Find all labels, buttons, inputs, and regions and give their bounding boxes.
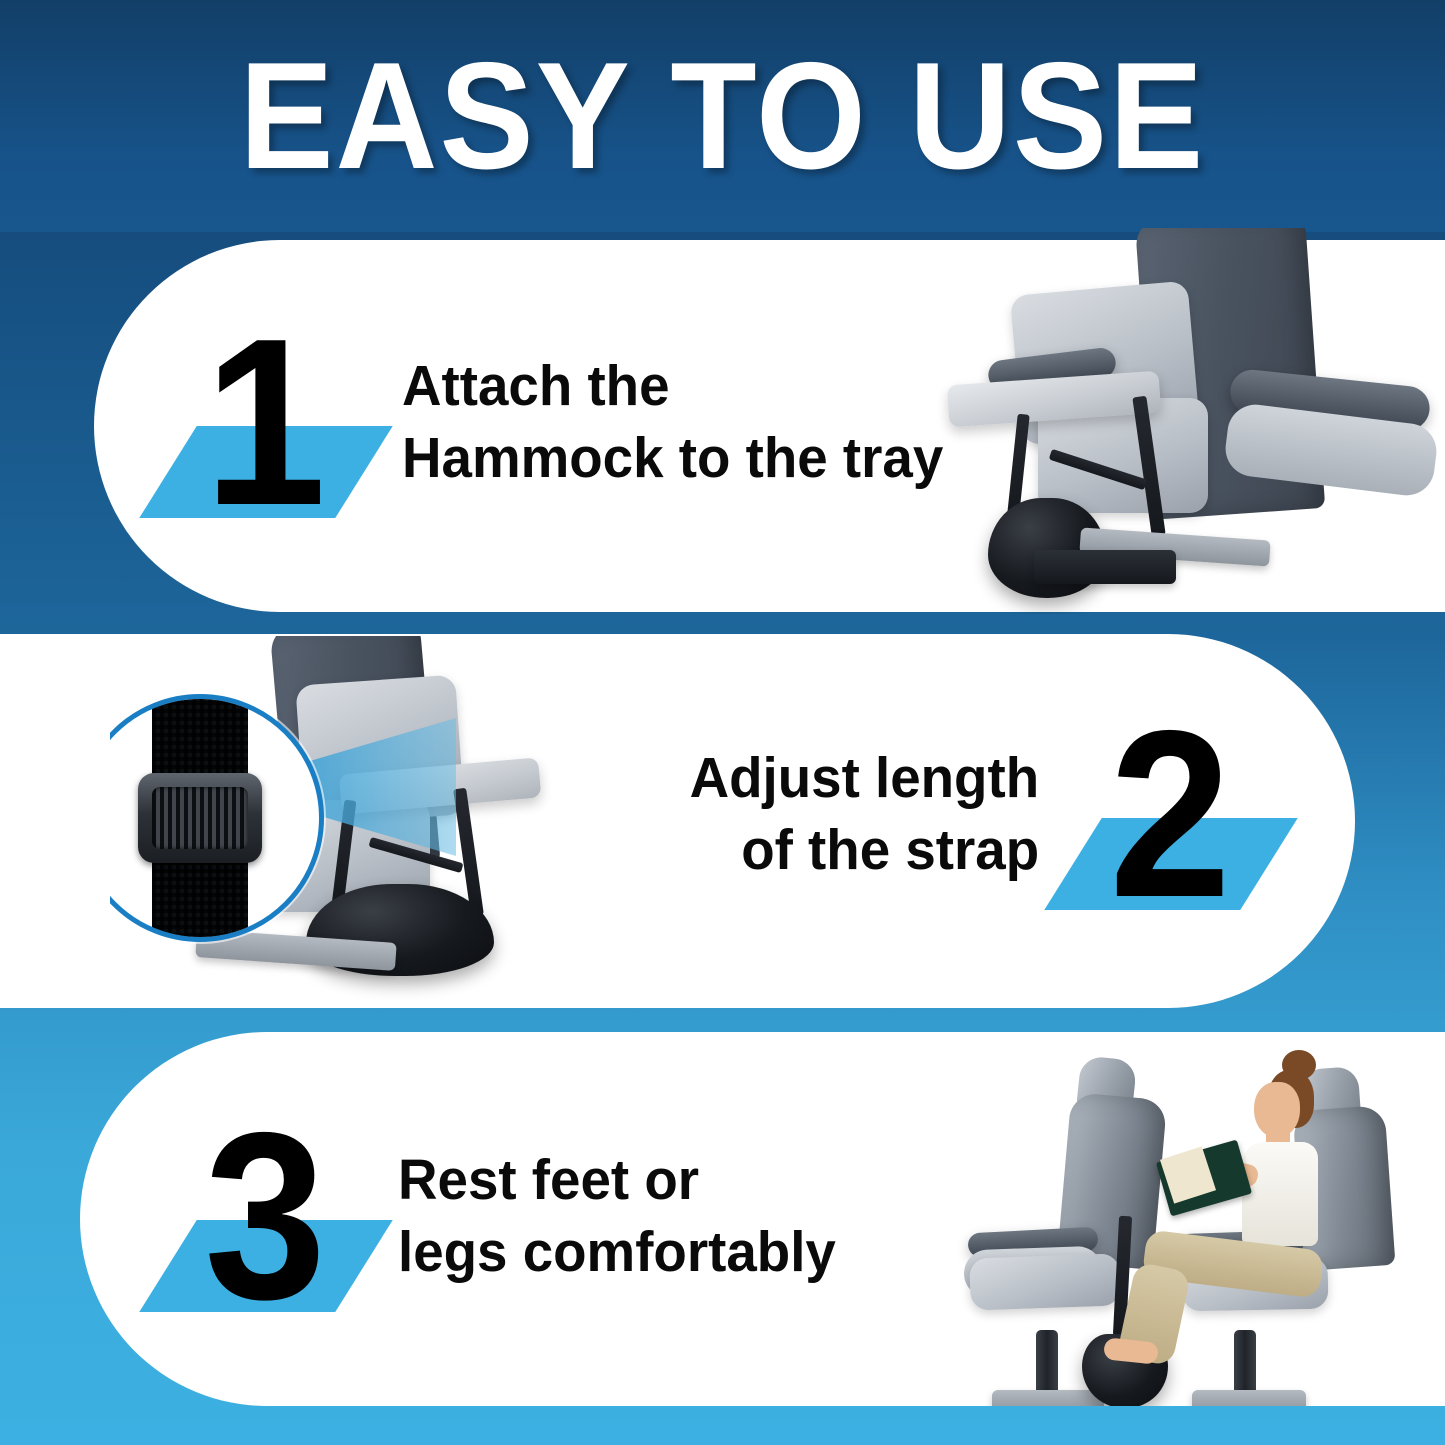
step-2-numeral: 2 (1109, 713, 1231, 918)
step-1-numeral: 1 (204, 321, 326, 526)
page-title: EASY TO USE (240, 40, 1206, 192)
header-banner: EASY TO USE (0, 0, 1445, 232)
step-3-content: 3 Rest feet or legs comfortably (160, 1092, 854, 1342)
step-2-number-badge: 2 (1065, 690, 1275, 940)
strap-buckle-icon (138, 773, 262, 863)
step-3-caption: Rest feet or legs comfortably (398, 1145, 836, 1289)
infographic-poster: EASY TO USE 1 Attach the Hammock to the … (0, 0, 1445, 1445)
step-3-photo (930, 1034, 1445, 1406)
step-3-numeral: 3 (204, 1115, 326, 1320)
step-1-content: 1 Attach the Hammock to the tray (160, 298, 966, 548)
step-1-photo (930, 228, 1445, 614)
step-3-number-badge: 3 (160, 1092, 370, 1342)
step-1-number-badge: 1 (160, 298, 370, 548)
step-2-caption: Adjust length of the strap (689, 743, 1039, 887)
step-2-photo (110, 636, 670, 1008)
step-2-content: Adjust length of the strap 2 (675, 690, 1275, 940)
step-1-caption: Attach the Hammock to the tray (402, 351, 943, 495)
